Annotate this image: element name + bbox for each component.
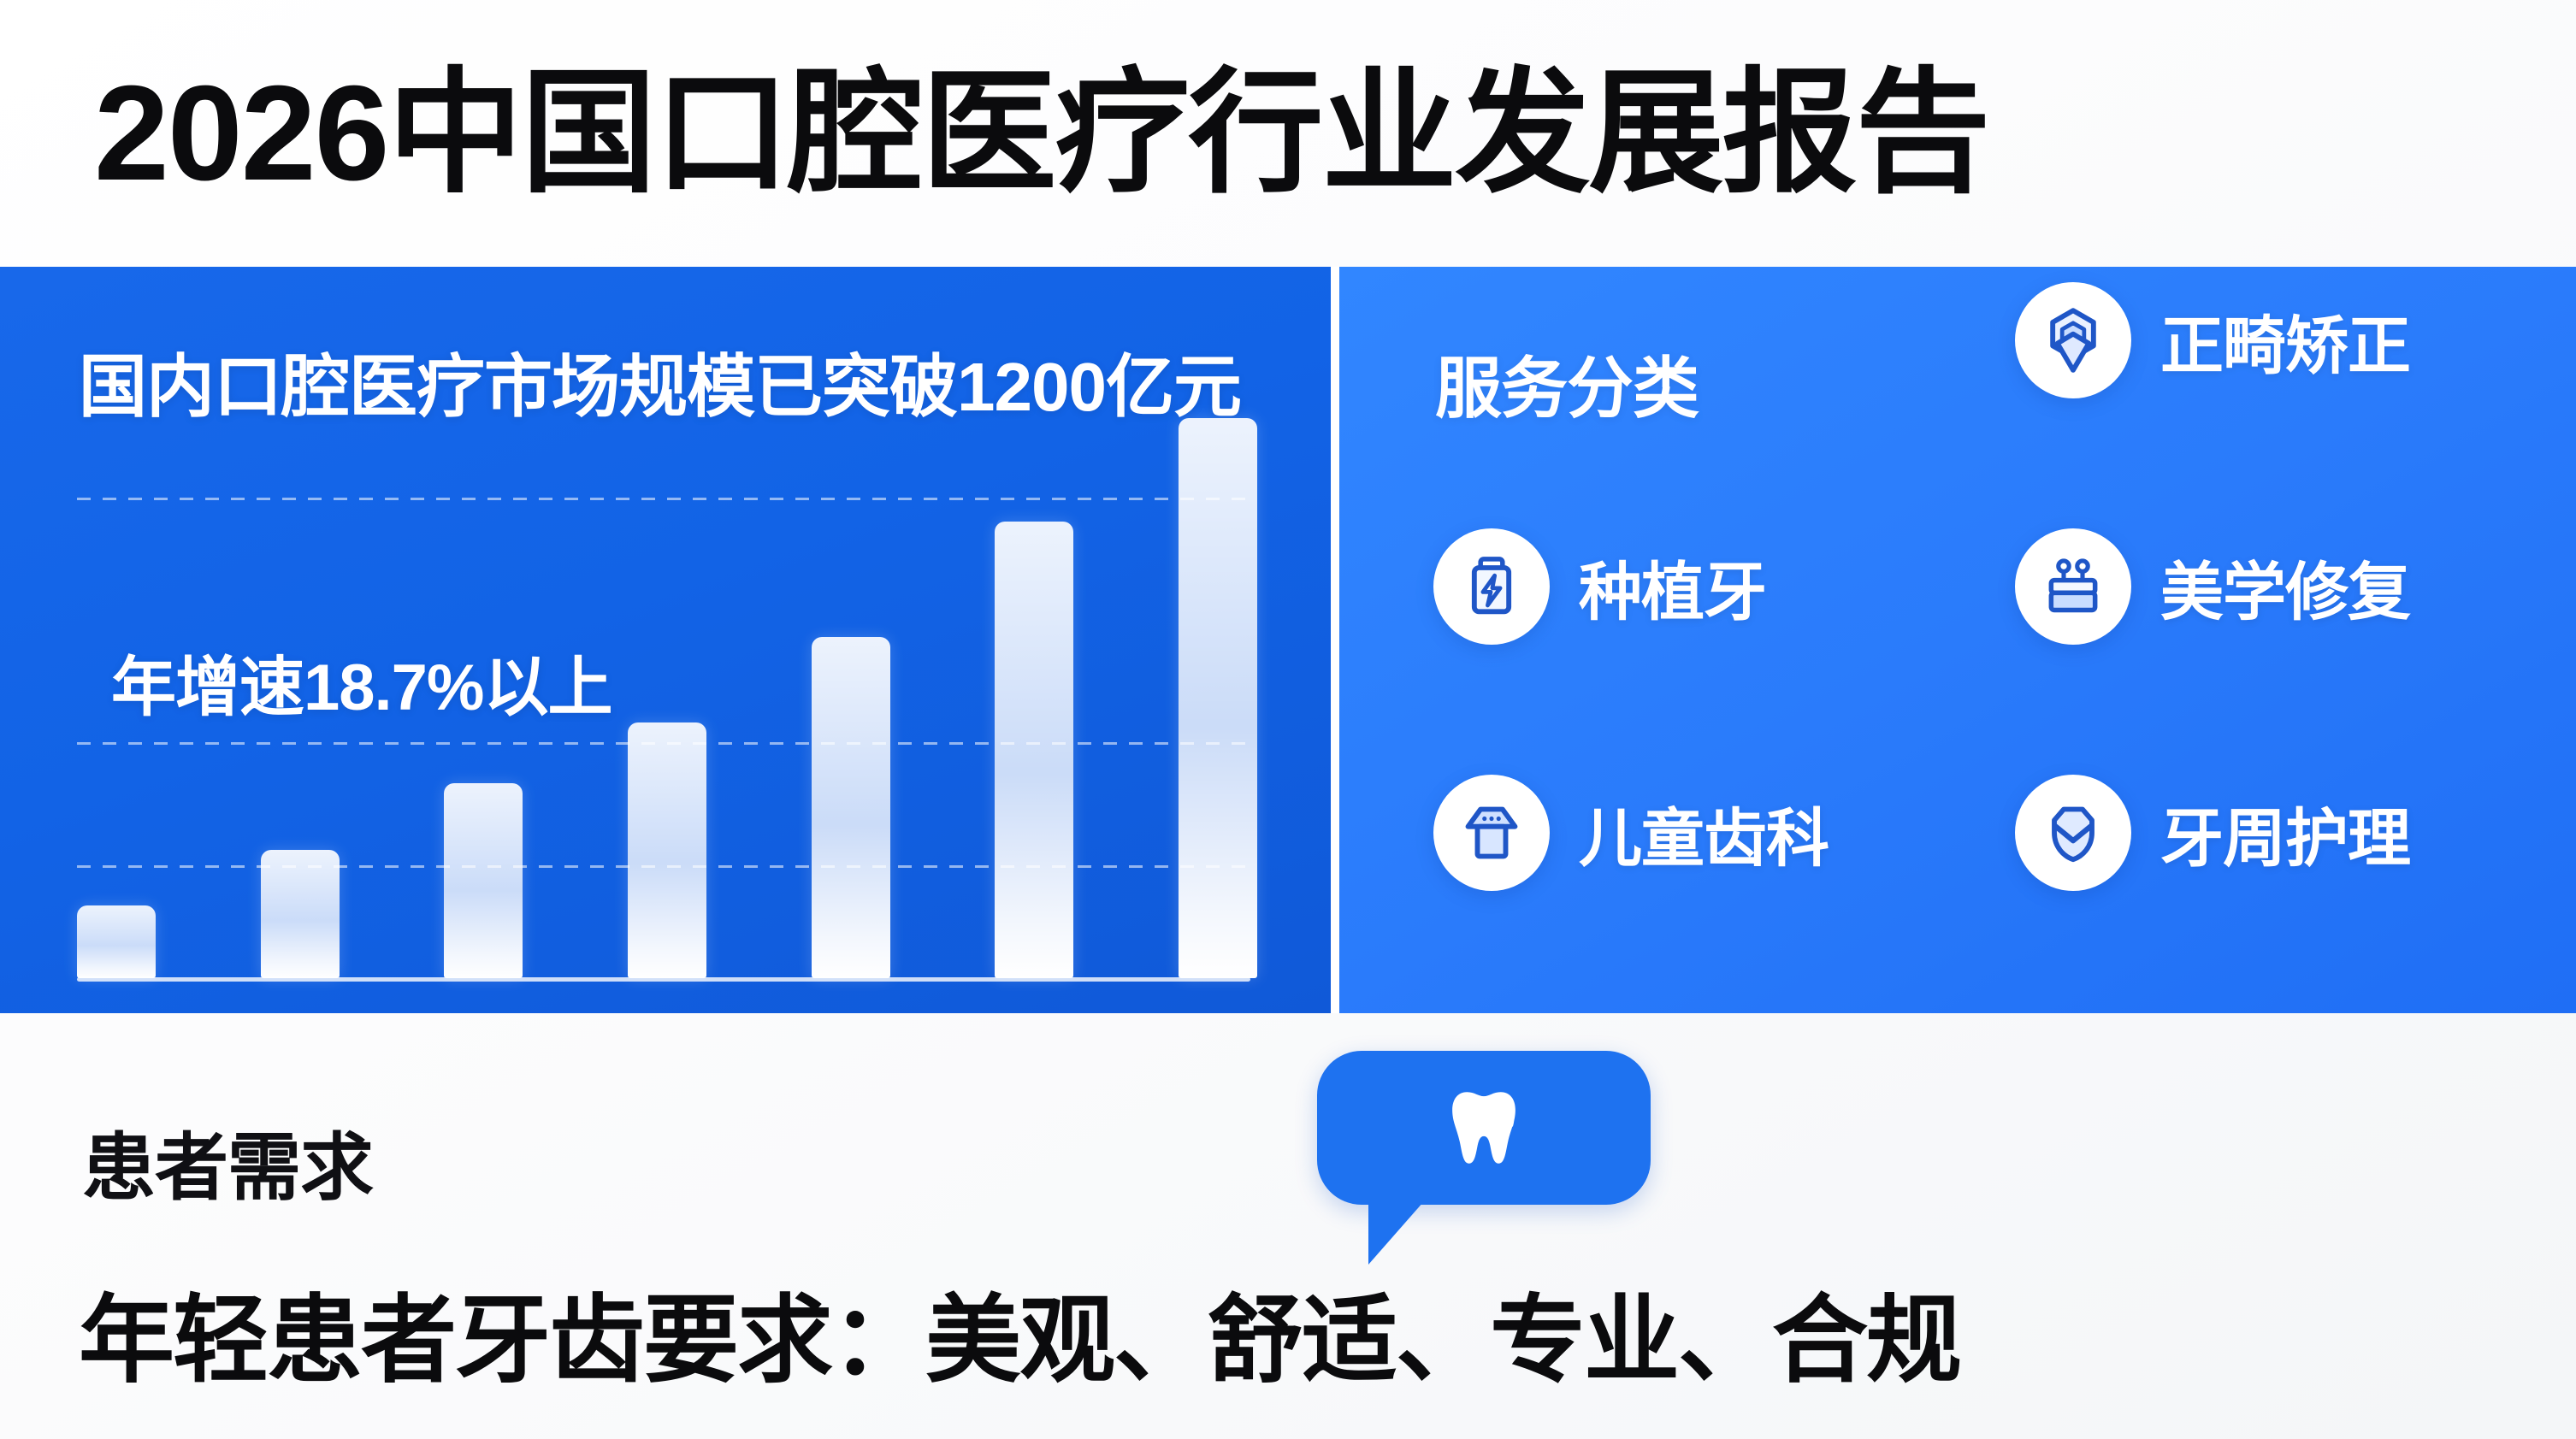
- growth-rate-subline: 年增速18.7%以上: [111, 634, 612, 728]
- service-item-label: 牙周护理: [2160, 787, 2410, 879]
- service-item-label: 种植牙: [1579, 541, 1766, 633]
- veneer-tray-icon: [2015, 528, 2131, 645]
- services-panel-title: 服务分类: [1435, 335, 1699, 431]
- patient-needs-label: 患者需求: [82, 1107, 373, 1214]
- chart-bar: [261, 850, 340, 978]
- tooth-icon: [1433, 1077, 1534, 1178]
- chart-bar: [444, 783, 523, 978]
- service-item-label: 正畸矫正: [2160, 295, 2410, 386]
- market-chart-panel: 国内口腔医疗市场规模已突破1200亿元 年增速18.7%以上: [0, 267, 1331, 1013]
- service-item-pediatric-dentistry[interactable]: 儿童齿科: [1433, 775, 1829, 891]
- chart-bar: [995, 522, 1073, 978]
- service-item-orthodontics[interactable]: 正畸矫正: [2015, 282, 2410, 398]
- panel-divider: [1331, 267, 1339, 1013]
- gum-shield-icon: [2015, 775, 2131, 891]
- panels-row: 国内口腔医疗市场规模已突破1200亿元 年增速18.7%以上 服务分类 正畸矫正: [0, 267, 2576, 1013]
- service-item-periodontal-care[interactable]: 牙周护理: [2015, 775, 2410, 891]
- page-title: 2026中国口腔医疗行业发展报告: [94, 66, 1989, 201]
- service-categories-panel: 服务分类 正畸矫正 种植牙: [1339, 267, 2576, 1013]
- kids-clinic-icon: [1433, 775, 1550, 891]
- service-item-label: 美学修复: [2160, 541, 2410, 633]
- chart-bar: [628, 722, 706, 978]
- service-item-label: 儿童齿科: [1579, 787, 1829, 879]
- hexagon-gem-icon: [2015, 282, 2131, 398]
- chart-axis-baseline: [77, 977, 1250, 982]
- chart-bar: [77, 905, 156, 978]
- patient-needs-statement: 年轻患者牙齿要求：美观、舒适、专业、合规: [79, 1263, 1960, 1401]
- tooth-bubble-tail: [1368, 1194, 1430, 1265]
- title-band: 2026中国口腔医疗行业发展报告: [0, 0, 2576, 267]
- chart-bar: [812, 637, 890, 978]
- tooth-speech-bubble: [1317, 1051, 1651, 1205]
- patient-needs-section: 患者需求 年轻患者牙齿要求：美观、舒适、专业、合规: [0, 1013, 2576, 1439]
- service-item-implant[interactable]: 种植牙: [1433, 528, 1766, 645]
- service-item-aesthetic-restoration[interactable]: 美学修复: [2015, 528, 2410, 645]
- implant-bolt-icon: [1433, 528, 1550, 645]
- chart-bar: [1179, 418, 1257, 978]
